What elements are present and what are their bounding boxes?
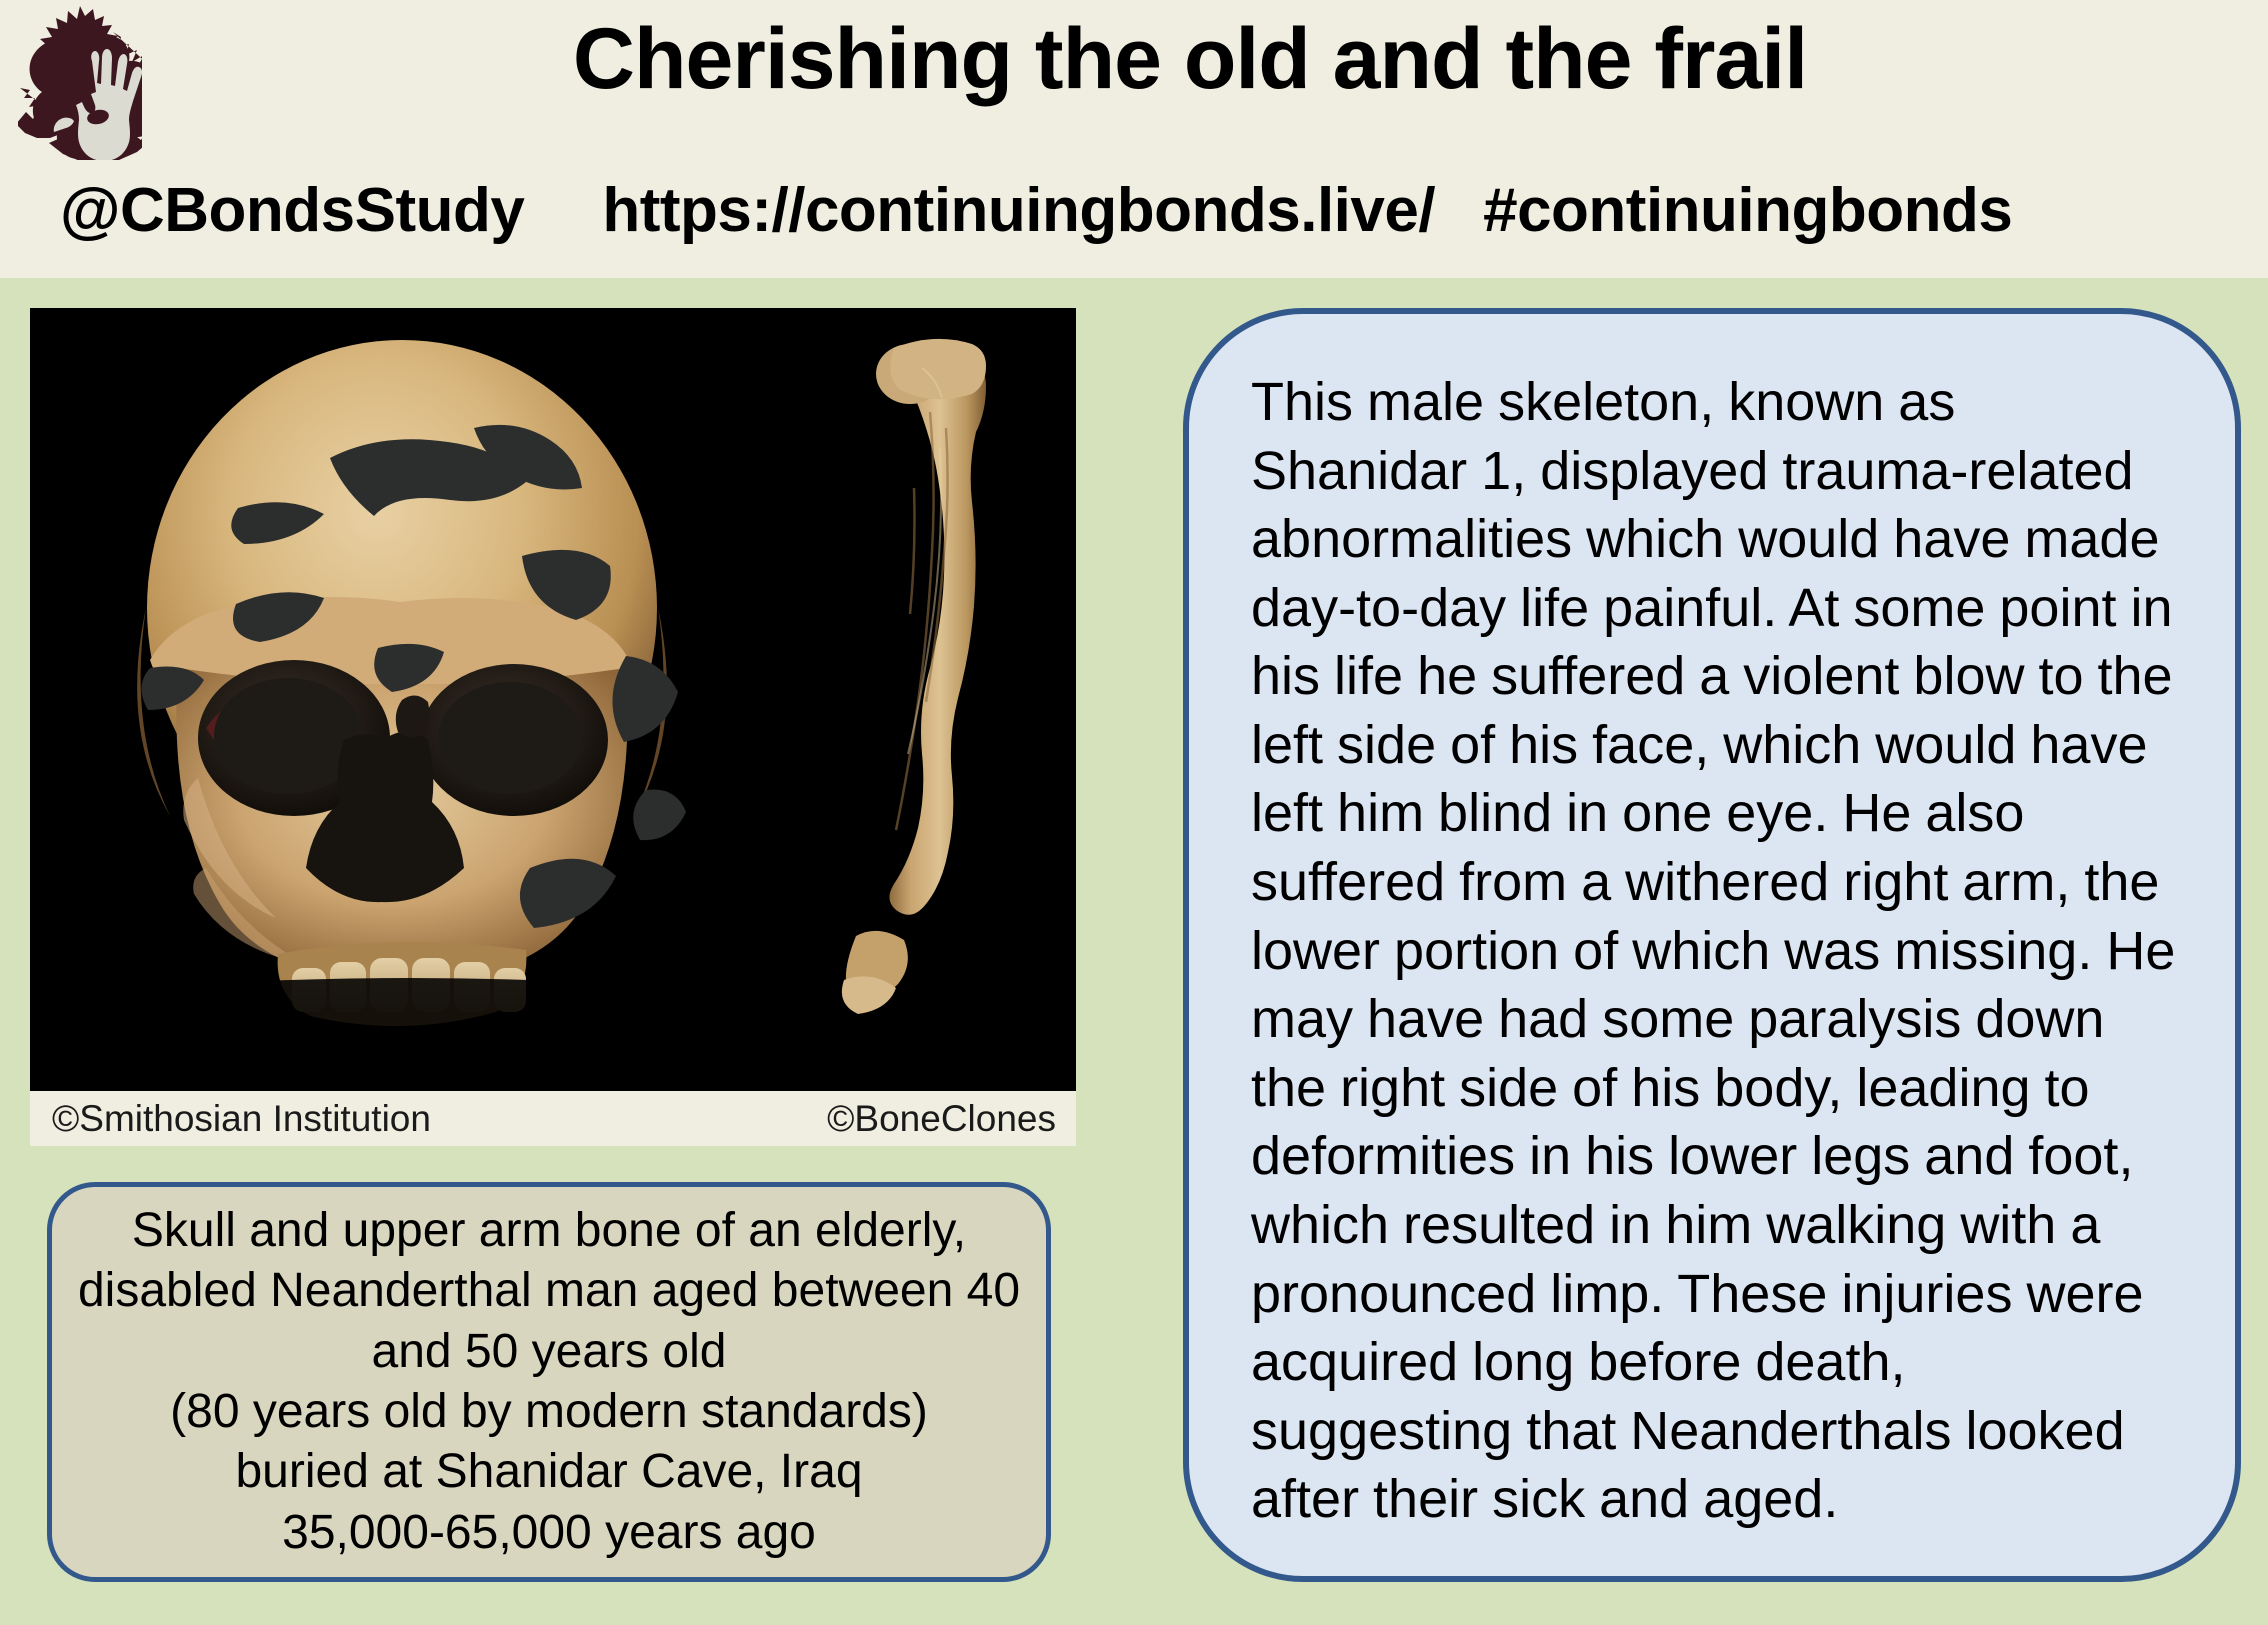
description-text: This male skeleton, known as Shanidar 1,… xyxy=(1251,368,2177,1534)
page-title: Cherishing the old and the frail xyxy=(160,14,2220,104)
caption-line: 35,000-65,000 years ago xyxy=(282,1503,816,1563)
photo-credit-strip: ©Smithosian Institution ©BoneClones xyxy=(30,1091,1076,1146)
poster-header: Cherishing the old and the frail @CBonds… xyxy=(0,0,2268,278)
photo-credit-left: ©Smithosian Institution xyxy=(52,1098,431,1140)
humerus-bone-image xyxy=(790,308,1076,1043)
hashtag[interactable]: #continuingbonds xyxy=(1483,175,2012,246)
caption-line: and 50 years old xyxy=(372,1322,727,1382)
specimen-caption-box: Skull and upper arm bone of an elderly, … xyxy=(47,1182,1051,1582)
caption-line: disabled Neanderthal man aged between 40 xyxy=(78,1261,1020,1321)
poster-root: Cherishing the old and the frail @CBonds… xyxy=(0,0,2268,1625)
website-url[interactable]: https://continuingbonds.live/ xyxy=(602,175,1435,246)
social-links-row: @CBondsStudy https://continuingbonds.liv… xyxy=(60,175,2220,246)
twitter-handle[interactable]: @CBondsStudy xyxy=(60,175,524,246)
specimen-photo-panel xyxy=(30,308,1076,1091)
caption-line: Skull and upper arm bone of an elderly, xyxy=(132,1201,966,1261)
photo-credit-right: ©BoneClones xyxy=(827,1098,1056,1140)
tree-handprint-logo-icon xyxy=(18,4,142,160)
caption-line: buried at Shanidar Cave, Iraq xyxy=(235,1442,862,1502)
neanderthal-skull-image xyxy=(30,308,790,1043)
description-box: This male skeleton, known as Shanidar 1,… xyxy=(1183,308,2241,1582)
caption-line: (80 years old by modern standards) xyxy=(170,1382,928,1442)
